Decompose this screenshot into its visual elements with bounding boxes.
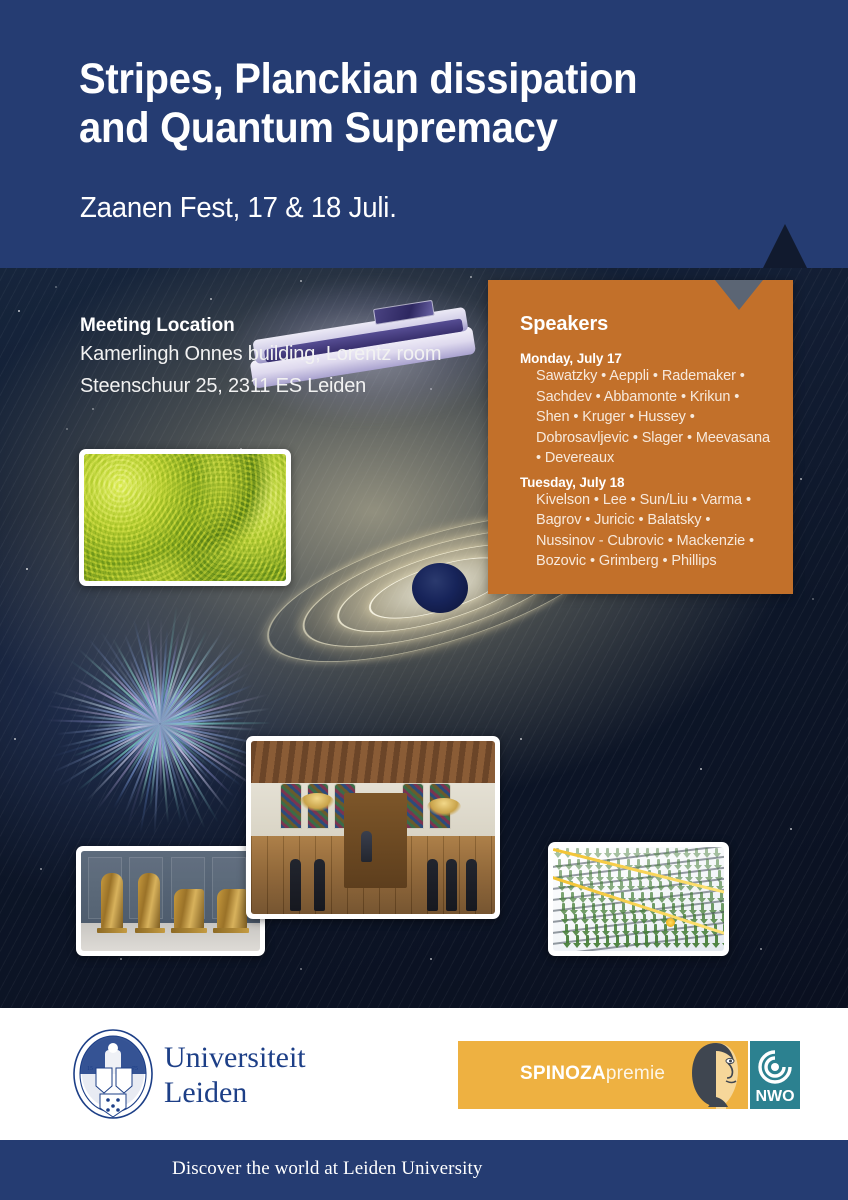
lattice-spin-arrow	[622, 903, 625, 912]
lattice-spin-arrow	[716, 859, 719, 867]
romanesco-texture	[84, 454, 286, 581]
lattice-spin-arrow	[565, 924, 568, 932]
lattice-spin-arrow	[655, 935, 658, 944]
footer-tagline-bar: Discover the world at Leiden University	[0, 1140, 848, 1200]
lattice-spin-arrow	[702, 914, 705, 921]
lattice-spin-arrow	[701, 903, 704, 912]
poster-root: Speakers Monday, July 17 Sawatzky • Aepp…	[0, 0, 848, 1200]
lattice-spin-arrow	[576, 935, 579, 944]
spinoza-portrait-icon	[686, 1041, 748, 1109]
lattice-spin-arrow	[695, 935, 698, 944]
lattice-spin-arrow	[614, 924, 617, 932]
lattice-spin-arrow	[590, 881, 593, 888]
lattice-spin-arrow	[624, 924, 627, 932]
star	[210, 298, 212, 300]
lattice-spin-arrow	[695, 848, 698, 855]
meeting-location-line-1: Kamerlingh Onnes building, Lorentz room	[80, 339, 441, 369]
star	[812, 598, 814, 600]
nwo-text: NWO	[755, 1088, 794, 1105]
lattice-spin-arrow	[698, 870, 701, 879]
lattice-spin-arrow	[577, 859, 580, 867]
lattice-spin-arrow	[710, 892, 713, 900]
svg-text:15: 15	[87, 1066, 93, 1072]
lattice-spin-arrow	[626, 935, 629, 944]
lattice-spin-arrow	[684, 924, 687, 932]
leiden-university-seal-icon: 15 75	[72, 1028, 154, 1120]
leiden-university-wordmark: Universiteit Leiden	[164, 1040, 306, 1110]
lattice-spin-arrow	[568, 859, 571, 867]
star	[430, 958, 432, 960]
lattice-spin-arrow	[633, 914, 636, 921]
lattice-spin-arrow	[583, 914, 586, 921]
star	[26, 568, 28, 570]
lattice-spin-arrow	[678, 870, 681, 879]
lattice-spin-arrow	[569, 870, 572, 879]
lattice-spin-arrow	[660, 892, 663, 900]
lattice-spin-arrow	[649, 881, 652, 888]
lattice-spin-arrow	[561, 892, 564, 900]
star	[300, 968, 302, 970]
lattice-spin-arrow	[610, 881, 613, 888]
stripe-order-lattice-diagram	[548, 842, 729, 956]
lattice-spin-arrow	[606, 935, 609, 944]
lattice-spin-arrow	[595, 924, 598, 932]
poster-header: Stripes, Planckian dissipation and Quant…	[0, 0, 848, 268]
lattice-spin-arrow	[608, 870, 611, 879]
star	[700, 768, 702, 770]
lattice-spin-arrow	[582, 903, 585, 912]
lattice-spin-arrow	[685, 935, 688, 944]
meeting-location-block: Meeting Location Kamerlingh Onnes buildi…	[80, 315, 441, 401]
day-tuesday-label: Tuesday, July 18	[520, 475, 772, 490]
lattice-spin-arrow	[623, 914, 626, 921]
speaker-at-pulpit	[361, 831, 372, 862]
lattice-spin-arrow	[646, 848, 649, 855]
lattice-spin-arrow	[593, 914, 596, 921]
spinoza-bold-word: SPINOZA	[520, 1063, 606, 1084]
lattice-spin-arrow	[685, 848, 688, 855]
golden-statues-photo	[76, 846, 265, 956]
star	[66, 428, 68, 430]
spinoza-nwo-logo-block: SPINOZApremie NWO	[458, 1041, 798, 1111]
star	[300, 280, 302, 282]
star	[470, 276, 472, 278]
lattice-spin-arrow	[571, 892, 574, 900]
lattice-spin-arrow	[645, 935, 648, 944]
ceremony-figure	[446, 859, 457, 911]
lattice-spin-arrow	[639, 881, 642, 888]
lattice-spin-arrow	[620, 881, 623, 888]
poster-subtitle: Zaanen Fest, 17 & 18 Juli.	[80, 192, 397, 225]
lattice-spin-arrow	[693, 914, 696, 921]
nwo-logo-icon: NWO	[750, 1041, 800, 1109]
lattice-spin-arrow	[631, 892, 634, 900]
statue-base	[171, 928, 207, 933]
lattice-spin-arrow	[688, 870, 691, 879]
lattice-spin-arrow	[641, 892, 644, 900]
lattice-spin-arrow	[666, 848, 669, 855]
lattice-highlight-dot	[666, 918, 675, 927]
lattice-spin-arrow	[643, 914, 646, 921]
lattice-spin-arrow	[705, 848, 708, 855]
lattice-spin-arrow	[659, 881, 662, 888]
star	[760, 948, 762, 950]
lattice-spin-arrow	[587, 859, 590, 867]
header-notch-triangle	[763, 224, 807, 268]
lattice-spin-arrow	[675, 848, 678, 855]
lattice-spin-arrow	[657, 859, 660, 867]
lattice-spin-arrow	[591, 892, 594, 900]
star	[800, 478, 802, 480]
star	[120, 958, 122, 960]
lattice-spin-arrow	[690, 892, 693, 900]
black-hole-sphere	[412, 563, 468, 613]
lattice-spin-arrow	[572, 903, 575, 912]
lattice-spin-arrow	[670, 892, 673, 900]
lattice-spin-arrow	[656, 848, 659, 855]
lattice-spin-arrow	[654, 924, 657, 932]
statues-image	[81, 851, 260, 951]
lattice-spin-arrow	[603, 914, 606, 921]
lattice-spin-arrow	[665, 935, 668, 944]
lattice-spin-arrow	[596, 848, 599, 855]
lattice-spin-arrow	[606, 848, 609, 855]
statue-base	[213, 928, 249, 933]
lorentz-room-ceremony-photo	[246, 736, 500, 919]
poster-title: Stripes, Planckian dissipation and Quant…	[79, 55, 730, 153]
pulpit	[344, 793, 407, 888]
star	[40, 868, 42, 870]
meeting-location-line-2: Steenschuur 25, 2311 ES Leiden	[80, 371, 441, 401]
lattice-spin-arrow	[579, 870, 582, 879]
star	[14, 738, 16, 740]
lattice-spin-arrow	[636, 848, 639, 855]
lattice-spin-arrow	[675, 935, 678, 944]
statue-base	[135, 928, 165, 933]
svg-text:75: 75	[132, 1066, 138, 1072]
romanesco-fractal-photo	[79, 449, 291, 586]
lattice-spin-arrow	[711, 903, 714, 912]
lattice-spin-arrow	[672, 903, 675, 912]
star	[18, 310, 20, 312]
lattice-spin-arrow	[715, 935, 718, 944]
lattice-spin-arrow	[612, 903, 615, 912]
lattice-spin-arrow	[628, 870, 631, 879]
lattice-spin-arrow	[680, 892, 683, 900]
poster-footer: 15 75 Universiteit Leiden SPINOZApremie	[0, 1008, 848, 1140]
lattice-spin-arrow	[674, 924, 677, 932]
lattice-spin-arrow	[575, 924, 578, 932]
day-tuesday-names: Kivelson • Lee • Sun/Liu • Varma • Bagro…	[520, 490, 772, 572]
seated-statue	[217, 889, 247, 929]
footer-tagline-text: Discover the world at Leiden University	[172, 1158, 482, 1180]
romanesco-image	[84, 454, 286, 581]
star	[55, 286, 57, 288]
lattice-spin-arrow	[669, 881, 672, 888]
lattice-spin-arrow	[719, 881, 722, 888]
lattice-spin-arrow	[592, 903, 595, 912]
lattice-spin-arrow	[647, 859, 650, 867]
lattice-spin-arrow	[708, 870, 711, 879]
lattice-spin-arrow	[706, 859, 709, 867]
ceremony-figure	[290, 859, 301, 911]
lattice-spin-arrow	[700, 892, 703, 900]
lattice-spin-arrow	[635, 935, 638, 944]
lattice-spin-arrow	[581, 892, 584, 900]
lattice-spin-arrow	[715, 848, 718, 855]
spinoza-premie-label: SPINOZApremie	[520, 1063, 665, 1085]
seated-statue	[174, 889, 204, 929]
lattice-spin-arrow	[564, 914, 567, 921]
stained-glass-window	[280, 783, 302, 830]
speakers-list: Monday, July 17 Sawatzky • Aeppli • Rade…	[520, 349, 772, 572]
lattice-spin-arrow	[586, 935, 589, 944]
lattice-spin-arrow	[596, 935, 599, 944]
lattice-spin-arrow	[681, 903, 684, 912]
lattice-spin-arrow	[616, 935, 619, 944]
lattice-spin-arrow	[691, 903, 694, 912]
day-monday-label: Monday, July 17	[520, 351, 772, 366]
lattice-spin-arrow	[602, 903, 605, 912]
lattice-spin-arrow	[616, 848, 619, 855]
lattice-spin-arrow	[712, 914, 715, 921]
lattice-image	[553, 847, 724, 951]
lattice-spin-arrow	[634, 924, 637, 932]
statue-base	[97, 928, 127, 933]
speakers-panel: Speakers Monday, July 17 Sawatzky • Aepp…	[488, 280, 793, 594]
lattice-spin-arrow	[562, 903, 565, 912]
lattice-spin-arrow	[613, 914, 616, 921]
lorentz-room-image	[251, 741, 495, 914]
lattice-spin-arrow	[566, 935, 569, 944]
lattice-spin-arrow	[600, 881, 603, 888]
hall-ceiling-beams	[251, 741, 495, 783]
lattice-spin-arrow	[574, 914, 577, 921]
lattice-spin-arrow	[586, 848, 589, 855]
meeting-location-heading: Meeting Location	[80, 315, 441, 337]
lattice-spin-arrow	[694, 924, 697, 932]
lattice-spin-arrow	[705, 935, 708, 944]
spinoza-light-word: premie	[606, 1063, 665, 1084]
lattice-spin-arrow	[720, 892, 723, 900]
lattice-spin-arrow	[687, 859, 690, 867]
ceremony-figure	[466, 859, 477, 911]
lattice-spin-arrow	[667, 859, 670, 867]
standing-statue	[138, 873, 160, 929]
lattice-spin-arrow	[722, 914, 724, 921]
lattice-spin-arrow	[585, 924, 588, 932]
standing-statue	[101, 873, 123, 929]
lattice-spin-arrow	[677, 859, 680, 867]
lattice-spin-arrow	[637, 859, 640, 867]
lattice-spin-arrow	[629, 881, 632, 888]
chandelier	[300, 793, 334, 811]
speakers-heading: Speakers	[520, 313, 608, 336]
day-monday-names: Sawatzky • Aeppli • Rademaker • Sachdev …	[520, 366, 772, 469]
leiden-university-logo: 15 75 Universiteit Leiden	[72, 1026, 312, 1122]
star	[790, 828, 792, 830]
lattice-spin-arrow	[618, 870, 621, 879]
star	[520, 738, 522, 740]
lattice-spin-arrow	[589, 870, 592, 879]
ceremony-figure	[427, 859, 438, 911]
ceremony-figure	[314, 859, 325, 911]
lattice-spin-arrow	[653, 914, 656, 921]
chandelier	[427, 798, 461, 816]
panel-notch-triangle	[715, 280, 763, 310]
star	[92, 408, 94, 410]
lattice-spin-arrow	[644, 924, 647, 932]
lattice-spin-arrow	[626, 848, 629, 855]
lattice-spin-arrow	[558, 859, 561, 867]
